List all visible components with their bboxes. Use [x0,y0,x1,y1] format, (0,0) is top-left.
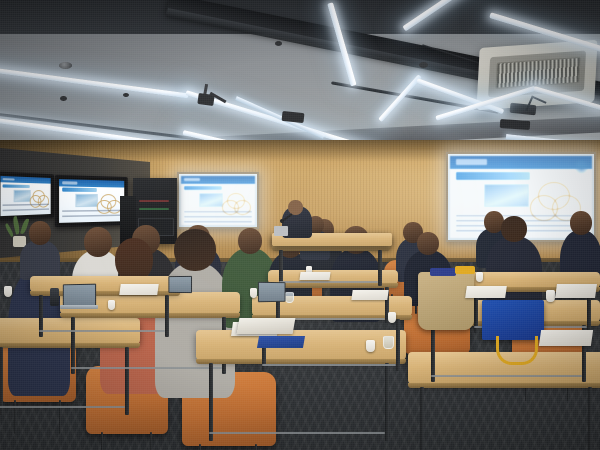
paper-cup [546,290,555,302]
tote-bag-handle [496,336,538,365]
blue-folder [430,268,456,276]
table-stretcher [209,432,385,434]
blue-folder [257,336,305,348]
chair-leg [150,432,152,450]
attendee-right-bowed-head [501,216,527,242]
handout-paper [465,286,507,298]
handout-paper [119,284,159,295]
notebook [237,318,296,334]
paper-cup [476,272,483,282]
table-leg [165,295,169,337]
tablet-base [60,305,98,309]
table-edge [272,246,390,251]
attendee-plaid-green-head [238,228,262,254]
handout-paper [351,290,388,300]
table-leg [125,347,129,415]
conference-room-photo [0,0,600,450]
table-leg [385,363,389,441]
paper-cup [108,300,115,310]
attendee-bottom-right-suit-head [417,232,439,255]
table-stretcher [39,330,165,332]
attendee-white-shirt-head [84,227,112,257]
paper-cup [250,288,257,298]
attendee-right-suit-head [570,211,592,235]
handout-paper [299,272,330,280]
chair-leg [255,444,257,450]
paper-cup [388,312,396,323]
khaki-bag [418,272,474,330]
table-leg [588,387,592,450]
chair-leg [199,444,201,450]
paper-cup [4,286,12,297]
handout-paper [555,284,597,298]
table-leg [420,387,424,450]
handout-paper [539,330,593,346]
microphone-head-icon [280,219,284,223]
table-leg [431,325,435,382]
table-leg [0,347,3,415]
table-stretcher [0,406,125,408]
chair-leg [101,432,103,450]
table-stretcher [279,281,378,283]
table-stretcher [431,375,582,377]
table-leg [71,317,75,374]
yellow-item [455,266,475,274]
laptop-screen[interactable] [168,276,192,293]
attendee-grey-sweater-head [174,229,216,271]
table-edge [60,313,240,318]
table-edge [0,343,140,348]
table-leg [378,250,382,286]
table-leg [396,319,400,371]
table-stretcher [262,364,396,366]
tote-bag [482,300,544,340]
table-stretcher [71,367,222,369]
travel-mug [50,288,59,306]
clear-cup [285,292,294,303]
table-edge [408,383,600,388]
attendee-back-row-left [20,240,60,280]
attendee-back-row-left-head [29,221,51,245]
laptop-screen[interactable] [258,282,286,302]
clear-cup [383,336,394,349]
table-leg [209,363,213,441]
paper-cup [366,340,375,352]
presenter-laptop [274,226,288,236]
